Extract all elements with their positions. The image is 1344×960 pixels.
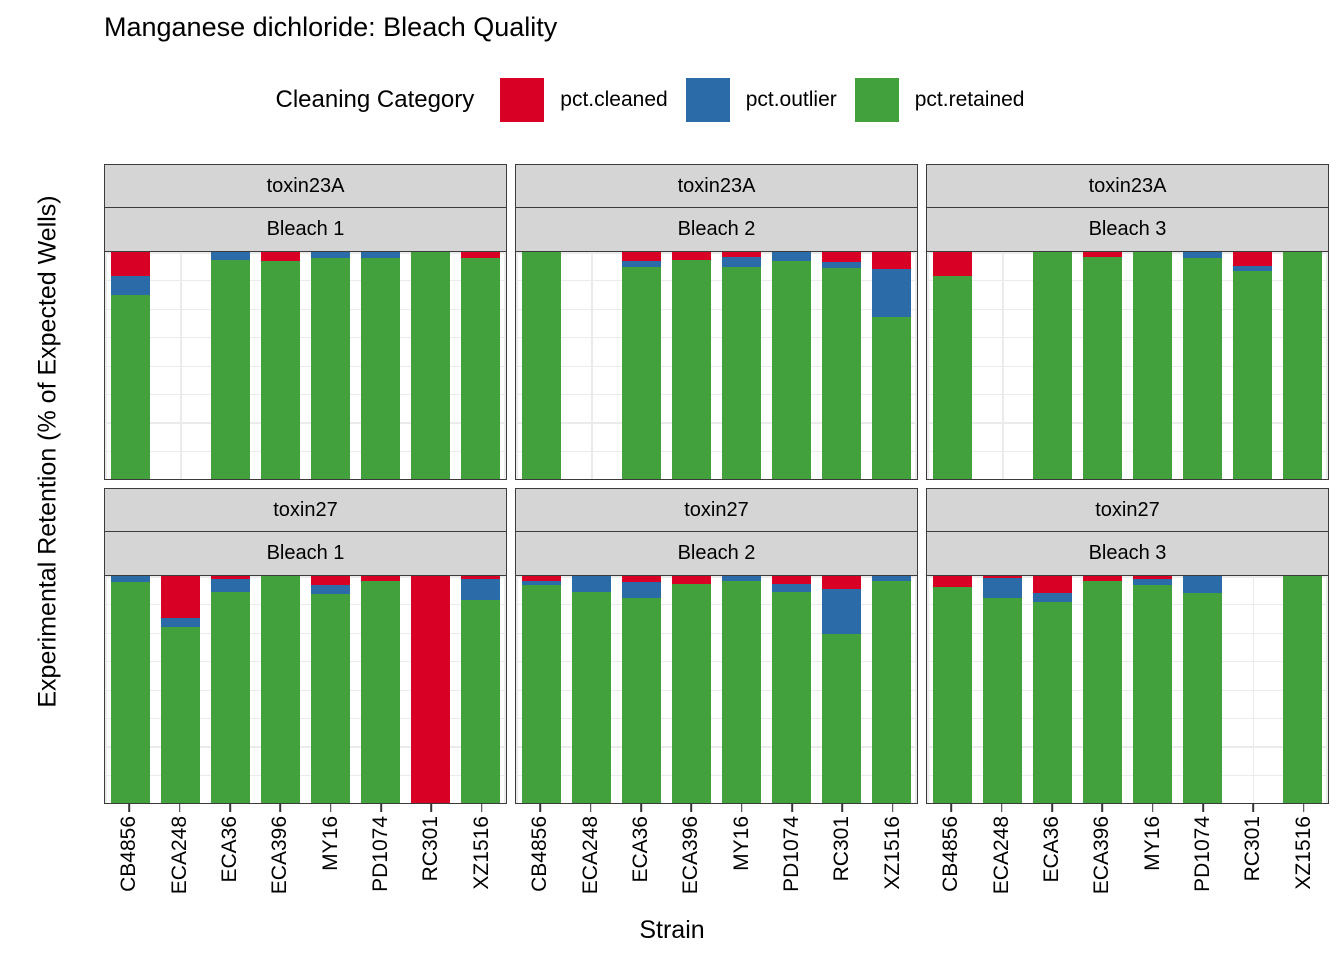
x-tick-xz1516: XZ1516 <box>457 804 507 914</box>
bar-slot-eca248 <box>977 252 1027 479</box>
bar-segment-pct-retained[interactable] <box>672 260 711 479</box>
bar-slot-eca396 <box>255 252 305 479</box>
x-tick-label: ECA396 <box>1090 816 1114 894</box>
x-axis-column: CB4856ECA248ECA36ECA396MY16PD1074RC301XZ… <box>104 804 507 914</box>
facet-strip-bleach: Bleach 1 <box>104 208 507 252</box>
facet-strip-bleach: Bleach 3 <box>926 532 1329 576</box>
x-tick-eca36: ECA36 <box>1027 804 1077 914</box>
bar-segment-pct-retained[interactable] <box>211 260 250 479</box>
stacked-bar[interactable] <box>722 576 761 803</box>
bar-segment-pct-retained[interactable] <box>361 258 400 479</box>
bar-segment-pct-retained[interactable] <box>1183 258 1222 479</box>
bar-slot-rc301 <box>406 252 456 479</box>
x-tick-mark <box>431 804 433 812</box>
bar-segment-pct-retained[interactable] <box>211 592 250 803</box>
legend-item-pct-cleaned[interactable]: pct.cleaned <box>500 78 667 122</box>
stacked-bar[interactable] <box>933 252 972 479</box>
legend-item-pct-retained[interactable]: pct.retained <box>855 78 1025 122</box>
bar-slot-xz1516 <box>867 576 917 803</box>
x-tick-my16: MY16 <box>1128 804 1178 914</box>
bar-segment-pct-outlier[interactable] <box>211 252 250 260</box>
x-tick-eca248: ECA248 <box>976 804 1026 914</box>
bar-slot-my16 <box>306 576 356 803</box>
bar-slot-eca396 <box>255 576 305 803</box>
bar-segment-pct-retained[interactable] <box>111 582 150 803</box>
facet-strip-toxin: toxin27 <box>926 488 1329 532</box>
bar-slot-eca248 <box>566 252 616 479</box>
x-tick-label: PD1074 <box>1191 816 1215 892</box>
x-tick-pd1074: PD1074 <box>767 804 817 914</box>
bar-slot-my16 <box>306 252 356 479</box>
bar-segment-pct-cleaned[interactable] <box>822 576 861 588</box>
bar-segment-pct-outlier[interactable] <box>1183 576 1222 593</box>
x-axis-title: Strain <box>0 916 1344 945</box>
x-tick-mark <box>892 804 894 812</box>
bar-segment-pct-cleaned[interactable] <box>872 252 911 269</box>
chart-root: Manganese dichloride: Bleach Quality Cle… <box>0 0 1344 960</box>
bar-segment-pct-retained[interactable] <box>311 594 350 803</box>
x-tick-label: ECA396 <box>268 816 292 894</box>
bar-slot-xz1516 <box>456 576 506 803</box>
bar-slot-xz1516 <box>1278 252 1328 479</box>
bar-slot-pd1074 <box>356 576 406 803</box>
bar-segment-pct-retained[interactable] <box>261 576 300 803</box>
facet-strip-bleach: Bleach 2 <box>515 208 918 252</box>
bar-slot-cb4856 <box>516 576 566 803</box>
x-tick-label: PD1074 <box>369 816 393 892</box>
bar-segment-pct-retained[interactable] <box>772 592 811 803</box>
x-tick-mark <box>691 804 693 812</box>
stacked-bar[interactable] <box>622 576 661 803</box>
stacked-bar[interactable] <box>1133 252 1172 479</box>
bar-slot-eca396 <box>666 576 716 803</box>
plot-panel <box>515 252 918 480</box>
bar-segment-pct-outlier[interactable] <box>161 618 200 627</box>
bar-slot-rc301 <box>406 576 456 803</box>
bar-segment-pct-retained[interactable] <box>983 598 1022 803</box>
x-tick-mark <box>842 804 844 812</box>
x-tick-label: ECA248 <box>990 816 1014 894</box>
stacked-bar[interactable] <box>722 252 761 479</box>
stacked-bar[interactable] <box>211 252 250 479</box>
bar-segment-pct-retained[interactable] <box>872 581 911 803</box>
stacked-bar[interactable] <box>361 576 400 803</box>
bar-slot-xz1516 <box>456 252 506 479</box>
stacked-bar[interactable] <box>311 576 350 803</box>
bar-slot-eca396 <box>666 252 716 479</box>
bar-segment-pct-retained[interactable] <box>1283 576 1322 803</box>
facet-panel: toxin23ABleach 2 <box>515 164 918 480</box>
x-tick-mark <box>481 804 483 812</box>
stacked-bar[interactable] <box>672 252 711 479</box>
legend-swatch-pct-outlier <box>686 78 730 122</box>
bars-container <box>927 576 1328 803</box>
bar-segment-pct-retained[interactable] <box>933 587 972 803</box>
bar-segment-pct-retained[interactable] <box>461 258 500 479</box>
bar-segment-pct-retained[interactable] <box>722 267 761 479</box>
bar-slot-eca248 <box>155 252 205 479</box>
stacked-bar[interactable] <box>261 576 300 803</box>
stacked-bar[interactable] <box>461 252 500 479</box>
x-tick-mark <box>1202 804 1204 812</box>
x-tick-mark <box>539 804 541 812</box>
x-tick-mark <box>128 804 130 812</box>
facet-strip-toxin: toxin23A <box>515 164 918 208</box>
stacked-bar[interactable] <box>1183 252 1222 479</box>
bar-slot-eca396 <box>1077 252 1127 479</box>
plot-panel <box>926 576 1329 804</box>
x-tick-label: MY16 <box>1141 816 1165 871</box>
bar-segment-pct-cleaned[interactable] <box>111 252 150 276</box>
stacked-bar[interactable] <box>1033 252 1072 479</box>
bar-segment-pct-retained[interactable] <box>1233 271 1272 479</box>
bar-segment-pct-outlier[interactable] <box>572 576 611 592</box>
bar-segment-pct-cleaned[interactable] <box>161 576 200 618</box>
legend-label-pct-retained: pct.retained <box>915 88 1025 112</box>
x-tick-mark <box>640 804 642 812</box>
x-tick-label: RC301 <box>1241 816 1265 881</box>
bar-segment-pct-retained[interactable] <box>522 252 561 479</box>
bar-slot-cb4856 <box>105 576 155 803</box>
x-tick-label: RC301 <box>419 816 443 881</box>
x-tick-mark <box>1102 804 1104 812</box>
bar-slot-rc301 <box>817 252 867 479</box>
bar-slot-eca248 <box>155 576 205 803</box>
bar-segment-pct-retained[interactable] <box>361 581 400 803</box>
x-tick-label: MY16 <box>319 816 343 871</box>
bar-segment-pct-retained[interactable] <box>933 276 972 479</box>
facet-grid: toxin23ABleach 1toxin23ABleach 2toxin23A… <box>104 164 1329 804</box>
bar-slot-eca36 <box>616 252 666 479</box>
x-tick-pd1074: PD1074 <box>356 804 406 914</box>
stacked-bar[interactable] <box>672 576 711 803</box>
x-tick-eca36: ECA36 <box>205 804 255 914</box>
x-tick-xz1516: XZ1516 <box>1279 804 1329 914</box>
bar-segment-pct-retained[interactable] <box>622 598 661 803</box>
x-tick-label: XZ1516 <box>470 816 494 890</box>
bar-slot-rc301 <box>1228 576 1278 803</box>
chart-title: Manganese dichloride: Bleach Quality <box>104 12 557 43</box>
bar-segment-pct-cleaned[interactable] <box>622 252 661 261</box>
bar-segment-pct-cleaned[interactable] <box>672 576 711 584</box>
bar-slot-eca36 <box>1027 576 1077 803</box>
stacked-bar[interactable] <box>872 576 911 803</box>
x-tick-rc301: RC301 <box>406 804 456 914</box>
bar-segment-pct-cleaned[interactable] <box>772 576 811 584</box>
bar-slot-cb4856 <box>927 576 977 803</box>
x-tick-rc301: RC301 <box>1228 804 1278 914</box>
stacked-bar[interactable] <box>522 252 561 479</box>
bar-slot-cb4856 <box>105 252 155 479</box>
bar-segment-pct-cleaned[interactable] <box>1033 576 1072 593</box>
facet-panel: toxin27Bleach 1 <box>104 488 507 804</box>
bar-slot-cb4856 <box>516 252 566 479</box>
stacked-bar[interactable] <box>1283 252 1322 479</box>
bar-segment-pct-retained[interactable] <box>1083 257 1122 479</box>
bar-segment-pct-outlier[interactable] <box>1033 593 1072 602</box>
bar-segment-pct-cleaned[interactable] <box>672 252 711 260</box>
bar-segment-pct-retained[interactable] <box>311 258 350 479</box>
bar-slot-eca248 <box>566 576 616 803</box>
bar-segment-pct-retained[interactable] <box>872 317 911 479</box>
stacked-bar[interactable] <box>572 576 611 803</box>
x-tick-mark <box>741 804 743 812</box>
bar-segment-pct-retained[interactable] <box>261 261 300 479</box>
legend-label-pct-cleaned: pct.cleaned <box>560 88 667 112</box>
bar-slot-xz1516 <box>1278 576 1328 803</box>
x-tick-label: CB4856 <box>528 816 552 892</box>
bar-segment-pct-retained[interactable] <box>1133 585 1172 803</box>
x-tick-my16: MY16 <box>717 804 767 914</box>
bar-slot-eca36 <box>205 576 255 803</box>
bar-segment-pct-retained[interactable] <box>1133 252 1172 479</box>
stacked-bar[interactable] <box>361 252 400 479</box>
legend-item-pct-outlier[interactable]: pct.outlier <box>686 78 837 122</box>
bar-segment-pct-retained[interactable] <box>572 592 611 803</box>
stacked-bar[interactable] <box>111 576 150 803</box>
x-tick-eca36: ECA36 <box>616 804 666 914</box>
bar-segment-pct-cleaned[interactable] <box>933 576 972 587</box>
x-tick-rc301: RC301 <box>817 804 867 914</box>
bar-segment-pct-outlier[interactable] <box>822 589 861 634</box>
legend-swatch-pct-cleaned <box>500 78 544 122</box>
bar-segment-pct-retained[interactable] <box>411 252 450 479</box>
x-tick-label: ECA36 <box>629 816 653 883</box>
stacked-bar[interactable] <box>1083 252 1122 479</box>
bar-slot-xz1516 <box>867 252 917 479</box>
bar-segment-pct-retained[interactable] <box>622 267 661 479</box>
bar-slot-my16 <box>1128 252 1178 479</box>
facet-strip-toxin: toxin23A <box>926 164 1329 208</box>
bar-segment-pct-retained[interactable] <box>1083 581 1122 803</box>
bar-slot-eca36 <box>1027 252 1077 479</box>
stacked-bar[interactable] <box>211 576 250 803</box>
bar-segment-pct-outlier[interactable] <box>622 582 661 598</box>
bar-segment-pct-retained[interactable] <box>822 268 861 479</box>
x-tick-mark <box>179 804 181 812</box>
x-tick-mark <box>1001 804 1003 812</box>
stacked-bar[interactable] <box>872 252 911 479</box>
stacked-bar[interactable] <box>1033 576 1072 803</box>
stacked-bar[interactable] <box>261 252 300 479</box>
x-tick-label: CB4856 <box>939 816 963 892</box>
x-tick-xz1516: XZ1516 <box>868 804 918 914</box>
stacked-bar[interactable] <box>772 252 811 479</box>
bar-segment-pct-retained[interactable] <box>1033 602 1072 803</box>
bar-segment-pct-outlier[interactable] <box>211 579 250 591</box>
x-tick-mark <box>380 804 382 812</box>
x-axis: CB4856ECA248ECA36ECA396MY16PD1074RC301XZ… <box>104 804 1329 914</box>
bar-segment-pct-outlier[interactable] <box>772 584 811 592</box>
x-tick-eca396: ECA396 <box>666 804 716 914</box>
facet-strip-bleach: Bleach 2 <box>515 532 918 576</box>
stacked-bar[interactable] <box>1233 252 1272 479</box>
bar-segment-pct-cleaned[interactable] <box>1233 252 1272 266</box>
plot-panel <box>926 252 1329 480</box>
bar-segment-pct-retained[interactable] <box>672 584 711 803</box>
stacked-bar[interactable] <box>822 576 861 803</box>
bar-segment-pct-cleaned[interactable] <box>822 252 861 262</box>
bar-segment-pct-outlier[interactable] <box>872 269 911 317</box>
legend-title: Cleaning Category <box>275 86 474 114</box>
plot-panel <box>515 576 918 804</box>
legend-swatch-pct-retained <box>855 78 899 122</box>
stacked-bar[interactable] <box>411 576 450 803</box>
bar-slot-pd1074 <box>356 252 406 479</box>
x-tick-cb4856: CB4856 <box>926 804 976 914</box>
bar-segment-pct-outlier[interactable] <box>311 585 350 594</box>
legend-label-pct-outlier: pct.outlier <box>746 88 837 112</box>
bar-segment-pct-retained[interactable] <box>722 581 761 803</box>
bar-segment-pct-retained[interactable] <box>772 261 811 479</box>
bar-segment-pct-outlier[interactable] <box>722 257 761 267</box>
x-tick-mark <box>229 804 231 812</box>
x-tick-eca248: ECA248 <box>565 804 615 914</box>
bar-segment-pct-retained[interactable] <box>1033 252 1072 479</box>
bar-slot-eca36 <box>205 252 255 479</box>
bars-container <box>927 252 1328 479</box>
stacked-bar[interactable] <box>983 576 1022 803</box>
bar-slot-my16 <box>717 576 767 803</box>
x-tick-mark <box>1152 804 1154 812</box>
bar-slot-cb4856 <box>927 252 977 479</box>
x-tick-label: PD1074 <box>780 816 804 892</box>
facet-strip-toxin: toxin27 <box>515 488 918 532</box>
x-tick-mark <box>950 804 952 812</box>
x-tick-label: XZ1516 <box>881 816 905 890</box>
x-tick-label: ECA248 <box>579 816 603 894</box>
stacked-bar[interactable] <box>1083 576 1122 803</box>
bar-segment-pct-outlier[interactable] <box>111 276 150 295</box>
bar-segment-pct-cleaned[interactable] <box>933 252 972 276</box>
x-tick-mark <box>590 804 592 812</box>
stacked-bar[interactable] <box>1283 576 1322 803</box>
x-tick-mark <box>1303 804 1305 812</box>
x-tick-my16: MY16 <box>306 804 356 914</box>
stacked-bar[interactable] <box>161 576 200 803</box>
stacked-bar[interactable] <box>111 252 150 479</box>
bar-segment-pct-retained[interactable] <box>522 585 561 803</box>
bar-slot-pd1074 <box>767 576 817 803</box>
bar-slot-pd1074 <box>1178 252 1228 479</box>
x-tick-label: RC301 <box>830 816 854 881</box>
bar-segment-pct-cleaned[interactable] <box>261 252 300 261</box>
x-tick-label: MY16 <box>730 816 754 871</box>
facet-strip-toxin: toxin27 <box>104 488 507 532</box>
stacked-bar[interactable] <box>622 252 661 479</box>
bar-slot-eca248 <box>977 576 1027 803</box>
facet-panel: toxin27Bleach 3 <box>926 488 1329 804</box>
x-tick-label: ECA396 <box>679 816 703 894</box>
bar-segment-pct-retained[interactable] <box>1183 593 1222 803</box>
x-axis-column: CB4856ECA248ECA36ECA396MY16PD1074RC301XZ… <box>515 804 918 914</box>
bar-segment-pct-outlier[interactable] <box>461 579 500 599</box>
bar-segment-pct-retained[interactable] <box>1283 252 1322 479</box>
stacked-bar[interactable] <box>411 252 450 479</box>
x-tick-label: ECA36 <box>1040 816 1064 883</box>
stacked-bar[interactable] <box>311 252 350 479</box>
x-tick-eca396: ECA396 <box>1077 804 1127 914</box>
bar-segment-pct-retained[interactable] <box>461 600 500 803</box>
x-tick-mark <box>1051 804 1053 812</box>
stacked-bar[interactable] <box>522 576 561 803</box>
bar-segment-pct-retained[interactable] <box>822 634 861 803</box>
stacked-bar[interactable] <box>933 576 972 803</box>
facet-panel: toxin27Bleach 2 <box>515 488 918 804</box>
bar-segment-pct-cleaned[interactable] <box>411 576 450 803</box>
x-tick-mark <box>280 804 282 812</box>
bar-slot-pd1074 <box>1178 576 1228 803</box>
x-tick-mark <box>1253 804 1255 812</box>
stacked-bar[interactable] <box>1133 576 1172 803</box>
bar-slot-eca36 <box>616 576 666 803</box>
facet-panel: toxin23ABleach 1 <box>104 164 507 480</box>
bar-segment-pct-outlier[interactable] <box>983 578 1022 597</box>
legend: Cleaning Category pct.cleaned pct.outlie… <box>104 78 1214 122</box>
x-tick-pd1074: PD1074 <box>1178 804 1228 914</box>
x-tick-mark <box>330 804 332 812</box>
x-tick-cb4856: CB4856 <box>104 804 154 914</box>
x-tick-label: ECA36 <box>218 816 242 883</box>
bar-segment-pct-cleaned[interactable] <box>311 576 350 585</box>
bar-segment-pct-outlier[interactable] <box>772 252 811 261</box>
x-tick-cb4856: CB4856 <box>515 804 565 914</box>
bars-container <box>105 252 506 479</box>
bar-segment-pct-retained[interactable] <box>111 295 150 479</box>
bars-container <box>105 576 506 803</box>
facet-strip-bleach: Bleach 1 <box>104 532 507 576</box>
x-tick-eca396: ECA396 <box>255 804 305 914</box>
bar-slot-my16 <box>1128 576 1178 803</box>
bar-slot-pd1074 <box>767 252 817 479</box>
stacked-bar[interactable] <box>772 576 811 803</box>
x-tick-label: CB4856 <box>117 816 141 892</box>
x-axis-column: CB4856ECA248ECA36ECA396MY16PD1074RC301XZ… <box>926 804 1329 914</box>
bar-slot-rc301 <box>817 576 867 803</box>
plot-panel <box>104 576 507 804</box>
plot-panel <box>104 252 507 480</box>
y-axis-title: Experimental Retention (% of Expected We… <box>34 142 63 762</box>
x-tick-mark <box>791 804 793 812</box>
bar-slot-my16 <box>717 252 767 479</box>
x-tick-eca248: ECA248 <box>154 804 204 914</box>
bars-container <box>516 576 917 803</box>
bar-segment-pct-retained[interactable] <box>161 627 200 803</box>
bar-slot-eca396 <box>1077 576 1127 803</box>
stacked-bar[interactable] <box>461 576 500 803</box>
facet-strip-toxin: toxin23A <box>104 164 507 208</box>
x-tick-label: ECA248 <box>168 816 192 894</box>
stacked-bar[interactable] <box>822 252 861 479</box>
facet-panel: toxin23ABleach 3 <box>926 164 1329 480</box>
bars-container <box>516 252 917 479</box>
stacked-bar[interactable] <box>1183 576 1222 803</box>
bar-slot-rc301 <box>1228 252 1278 479</box>
x-tick-label: XZ1516 <box>1292 816 1316 890</box>
facet-strip-bleach: Bleach 3 <box>926 208 1329 252</box>
